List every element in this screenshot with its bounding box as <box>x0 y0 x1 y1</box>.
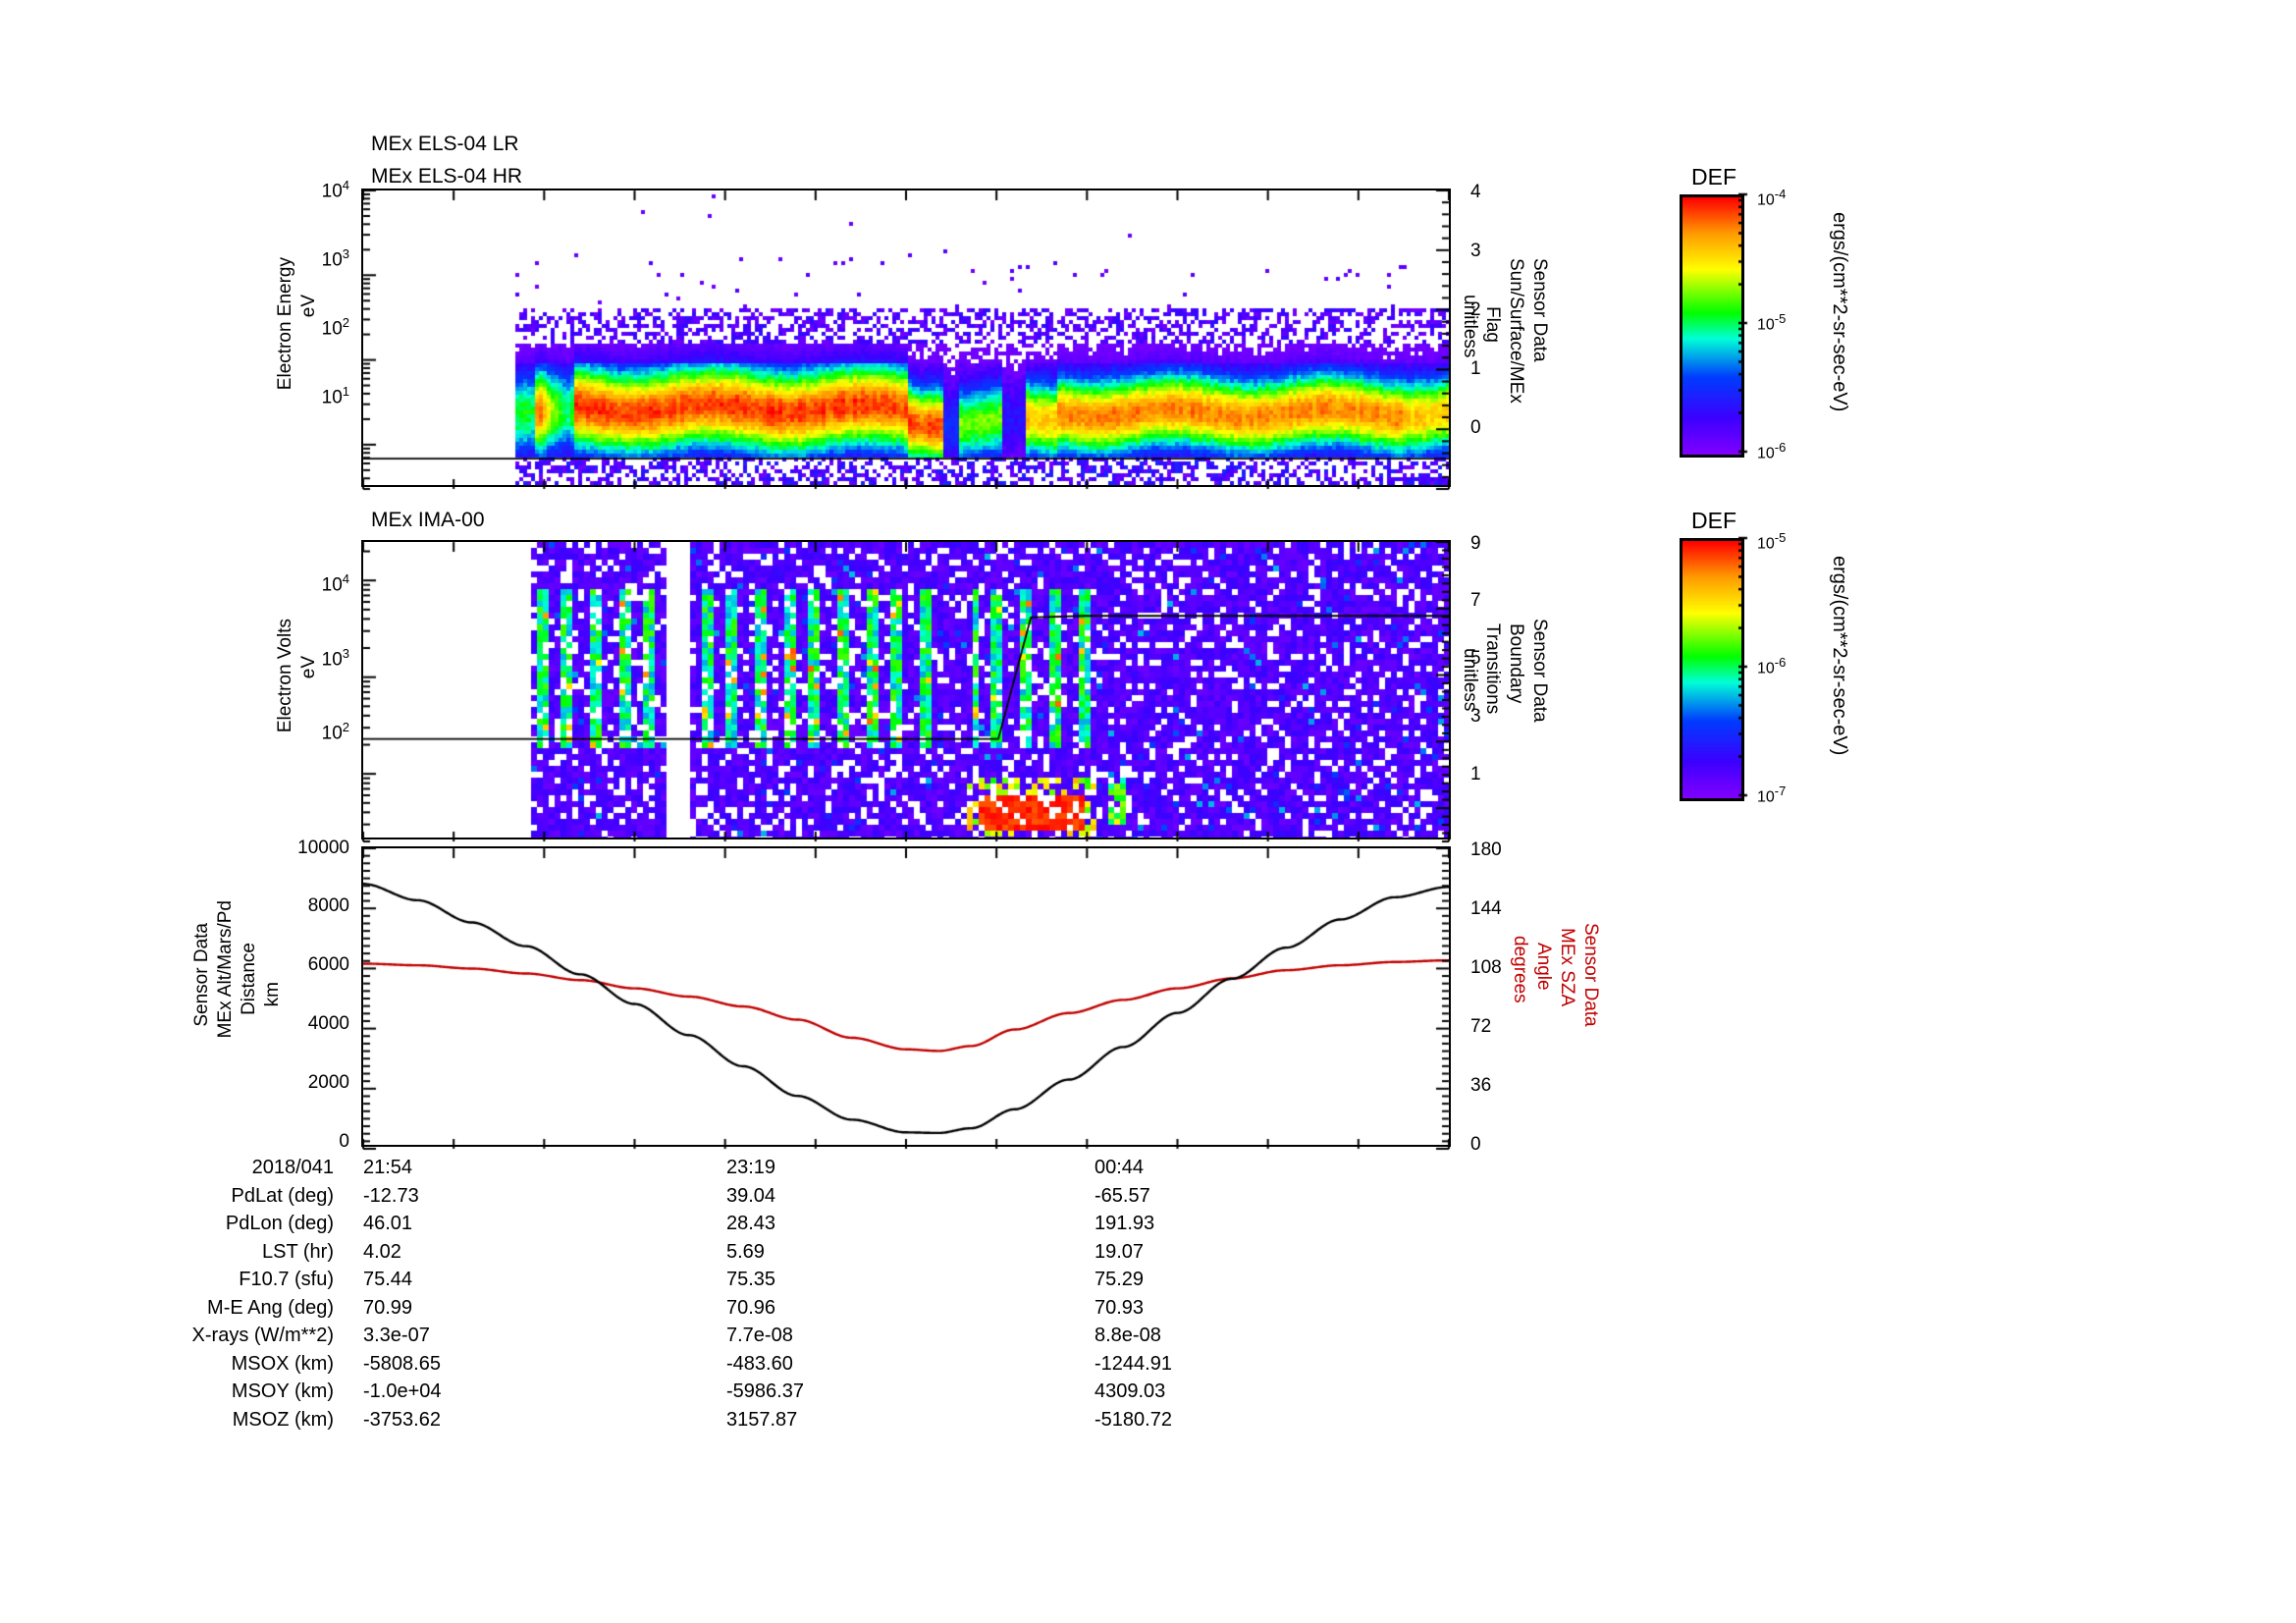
footer-cell: 3.3e-07 <box>363 1325 430 1347</box>
footer-cell: -65.57 <box>1095 1185 1150 1208</box>
panel2-right-label-1: Sensor Data <box>1529 619 1549 723</box>
footer-row-label: MSOZ (km) <box>0 1409 334 1432</box>
footer-cell: 23:19 <box>726 1157 775 1179</box>
footer-row-label: M-E Ang (deg) <box>0 1297 334 1320</box>
panel3-ytick-0: 0 <box>339 1131 349 1153</box>
footer-cell: -5986.37 <box>726 1380 804 1403</box>
panel1-right-label-4: unitless <box>1460 295 1479 357</box>
panel1-tick-marks <box>359 187 1453 493</box>
panel3-ytick-2000: 2000 <box>308 1072 349 1094</box>
panel1-ytick-1e3: 103 <box>322 246 349 271</box>
panel1-right-label-1: Sensor Data <box>1529 258 1549 362</box>
panel1-ylabel-line2: eV <box>299 295 319 317</box>
footer-cell: -483.60 <box>726 1353 793 1376</box>
footer-cell: 75.29 <box>1095 1269 1144 1291</box>
panel3-ylabel-line2: MEx Alt/Mars/Pd <box>216 900 236 1038</box>
panel1-rtick-1: 1 <box>1470 358 1481 380</box>
panel2-ytick-1e2: 102 <box>322 720 349 744</box>
footer-cell: 21:54 <box>363 1157 412 1179</box>
footer-cell: -5180.72 <box>1095 1409 1172 1432</box>
colorbar-1-bot-label: 10-6 <box>1757 440 1786 462</box>
panel2-right-label-3: Transitions <box>1482 623 1502 714</box>
panel2-rtick-1: 1 <box>1470 764 1481 785</box>
footer-cell: -5808.65 <box>363 1353 441 1376</box>
panel3-ytick-4000: 4000 <box>308 1013 349 1035</box>
footer-row-label: MSOY (km) <box>0 1380 334 1403</box>
panel1-title-lr: MEx ELS-04 LR <box>371 133 519 156</box>
footer-cell: 00:44 <box>1095 1157 1144 1179</box>
colorbar-1-gradient <box>1680 194 1744 458</box>
footer-cell: 3157.87 <box>726 1409 797 1432</box>
footer-row-label: X-rays (W/m**2) <box>0 1325 334 1347</box>
colorbar-2-title: DEF <box>1691 508 1736 534</box>
panel2-ylabel-line2: eV <box>299 656 319 678</box>
footer-cell: 191.93 <box>1095 1213 1154 1235</box>
panel3-rtick-0: 0 <box>1470 1134 1481 1156</box>
panel2-tick-marks <box>359 538 1453 845</box>
panel1-ytick-1e1: 101 <box>322 384 349 408</box>
panel1-rtick-0: 0 <box>1470 417 1481 439</box>
panel3-ytick-10000: 10000 <box>297 838 349 859</box>
footer-cell: 46.01 <box>363 1213 412 1235</box>
footer-cell: 70.99 <box>363 1297 412 1320</box>
footer-row-label: F10.7 (sfu) <box>0 1269 334 1291</box>
colorbar-1-top-label: 10-4 <box>1757 187 1786 209</box>
footer-cell: -1.0e+04 <box>363 1380 442 1403</box>
footer-cell: 5.69 <box>726 1241 765 1264</box>
footer-row-label: PdLat (deg) <box>0 1185 334 1208</box>
panel3-rtick-180: 180 <box>1470 839 1502 861</box>
panel1-ylabel-line1: Electron Energy <box>276 257 295 390</box>
panel3-tick-marks <box>359 844 1453 1153</box>
footer-cell: 4.02 <box>363 1241 401 1264</box>
panel2-ylabel-line1: Electron Volts <box>276 619 295 732</box>
panel2-rtick-9: 9 <box>1470 533 1481 555</box>
footer-cell: -1244.91 <box>1095 1353 1172 1376</box>
footer-cell: 4309.03 <box>1095 1380 1165 1403</box>
panel3-ytick-6000: 6000 <box>308 954 349 976</box>
colorbar-2-gradient <box>1680 538 1744 801</box>
footer-row-label: MSOX (km) <box>0 1353 334 1376</box>
panel3-right-label-4: degrees <box>1510 936 1529 1003</box>
panel2-title: MEx IMA-00 <box>371 509 485 532</box>
footer-cell: 8.8e-08 <box>1095 1325 1161 1347</box>
footer-cell: 75.44 <box>363 1269 412 1291</box>
footer-cell: -12.73 <box>363 1185 419 1208</box>
panel1-rtick-3: 3 <box>1470 241 1481 262</box>
panel2-ytick-1e4: 104 <box>322 571 349 596</box>
panel3-right-label-1: Sensor Data <box>1580 923 1600 1027</box>
panel3-right-label-2: MEx SZA <box>1557 928 1576 1006</box>
colorbar-1-title: DEF <box>1691 164 1736 190</box>
panel3-rtick-144: 144 <box>1470 898 1502 920</box>
colorbar-1-ticks <box>1738 191 1760 455</box>
panel3-ylabel-line3: Distance <box>240 943 259 1015</box>
footer-row-label: 2018/041 <box>0 1157 334 1179</box>
colorbar-2-top-label: 10-5 <box>1757 530 1786 553</box>
colorbar-2-ticks <box>1738 535 1760 798</box>
footer-cell: 70.93 <box>1095 1297 1144 1320</box>
panel1-title-hr: MEx ELS-04 HR <box>371 165 522 189</box>
panel3-rtick-36: 36 <box>1470 1075 1491 1097</box>
footer-cell: -3753.62 <box>363 1409 441 1432</box>
panel3-rtick-108: 108 <box>1470 957 1502 979</box>
colorbar-1-mid-label: 10-5 <box>1757 311 1786 334</box>
panel1-right-label-3: Flag <box>1482 306 1502 343</box>
panel2-rtick-7: 7 <box>1470 590 1481 612</box>
footer-row-label: LST (hr) <box>0 1241 334 1264</box>
footer-cell: 70.96 <box>726 1297 775 1320</box>
footer-cell: 7.7e-08 <box>726 1325 793 1347</box>
panel2-right-label-2: Boundary <box>1506 623 1525 703</box>
footer-cell: 28.43 <box>726 1213 775 1235</box>
colorbar-2-mid-label: 10-6 <box>1757 655 1786 677</box>
panel1-rtick-4: 4 <box>1470 182 1481 203</box>
panel2-ytick-1e3: 103 <box>322 646 349 671</box>
colorbar-2-bot-label: 10-7 <box>1757 784 1786 806</box>
colorbar-2-units: ergs/(cm**2-sr-sec-eV) <box>1828 556 1850 755</box>
panel3-right-label-3: Angle <box>1533 943 1553 991</box>
panel1-ytick-1e2: 102 <box>322 315 349 340</box>
colorbar-1-units: ergs/(cm**2-sr-sec-eV) <box>1828 212 1850 411</box>
panel3-rtick-72: 72 <box>1470 1016 1491 1038</box>
panel1-right-label-2: Sun/Surface/MEx <box>1506 258 1525 404</box>
footer-cell: 75.35 <box>726 1269 775 1291</box>
footer-cell: 19.07 <box>1095 1241 1144 1264</box>
footer-cell: 39.04 <box>726 1185 775 1208</box>
panel3-ytick-8000: 8000 <box>308 895 349 917</box>
panel3-ylabel-line1: Sensor Data <box>192 923 212 1027</box>
panel1-ytick-1e4: 104 <box>322 178 349 202</box>
footer-row-label: PdLon (deg) <box>0 1213 334 1235</box>
panel3-ylabel-line4: km <box>263 982 283 1006</box>
panel2-right-label-4: unitless <box>1460 648 1479 711</box>
